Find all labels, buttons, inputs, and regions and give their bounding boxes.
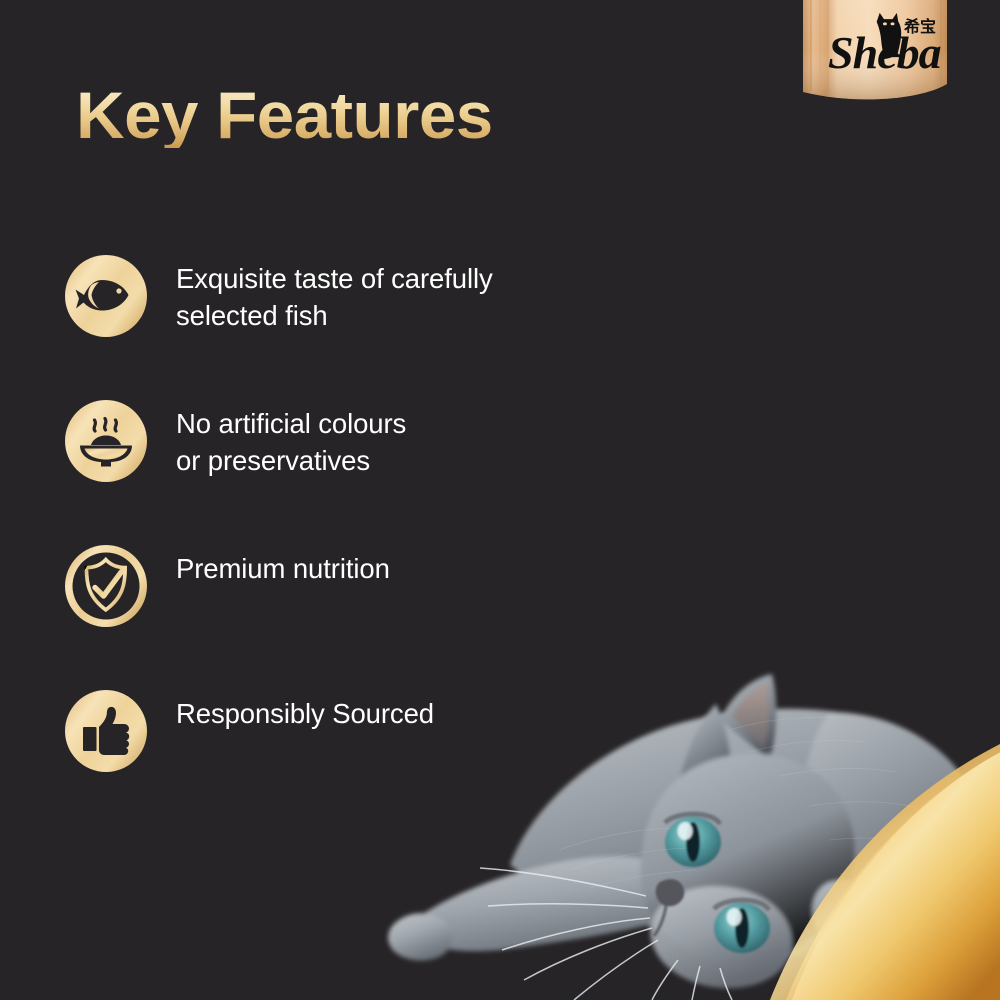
key-features-promo-page: Sheba 希宝 ® Key Features [0,0,1000,1000]
gold-swoosh [670,700,1000,1000]
sheba-wordmark-cn: 希宝 [904,17,936,36]
cat-whiskers [480,868,732,1000]
feature-item-label: Premium nutrition [176,544,390,588]
fish-icon [64,254,148,338]
feature-item-responsibly-sourced: Responsibly Sourced [64,689,704,834]
cat-eyes [665,814,770,953]
feature-item-label: Exquisite taste of carefully selected fi… [176,254,493,334]
sheba-brand-banner: Sheba 希宝 ® [800,0,946,100]
page-title: Key Features [76,82,493,148]
steaming-bowl-icon [64,399,148,483]
shield-check-icon [64,544,148,628]
swoosh-main [786,752,1000,1000]
feature-item-no-artificial-colours: No artificial colours or preservatives [64,399,704,544]
feature-item-label: No artificial colours or preservatives [176,399,406,479]
thumbs-up-icon [64,689,148,773]
feature-list: Exquisite taste of carefully selected fi… [64,254,704,834]
registered-trademark-mark: ® [933,50,939,58]
feature-item-premium-nutrition: Premium nutrition [64,544,704,689]
cat-nose [654,879,684,936]
swoosh-edge [770,744,1000,1000]
feature-item-fish: Exquisite taste of carefully selected fi… [64,254,704,399]
feature-item-label: Responsibly Sourced [176,689,434,733]
